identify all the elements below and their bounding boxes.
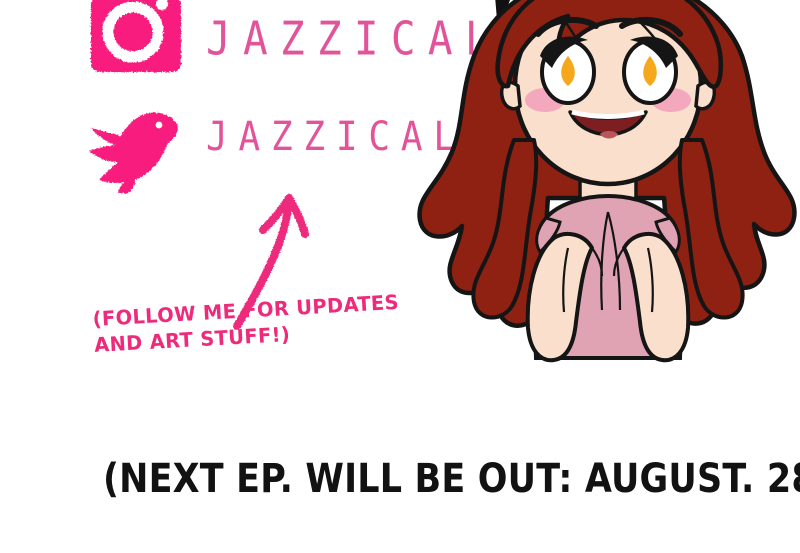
cartoon-girl-character	[408, 0, 800, 385]
comic-footer-panel: JAZZICALNES JAZZICALNES	[0, 0, 800, 553]
twitter-bird-icon[interactable]	[85, 104, 189, 194]
next-episode-caption: (NEXT EP. WILL BE OUT: AUGUST. 28TH!)	[103, 455, 800, 501]
instagram-icon[interactable]	[88, 0, 185, 78]
follow-note: (FOLLOW ME FOR UPDATES AND ART STUFF!)	[92, 288, 424, 360]
